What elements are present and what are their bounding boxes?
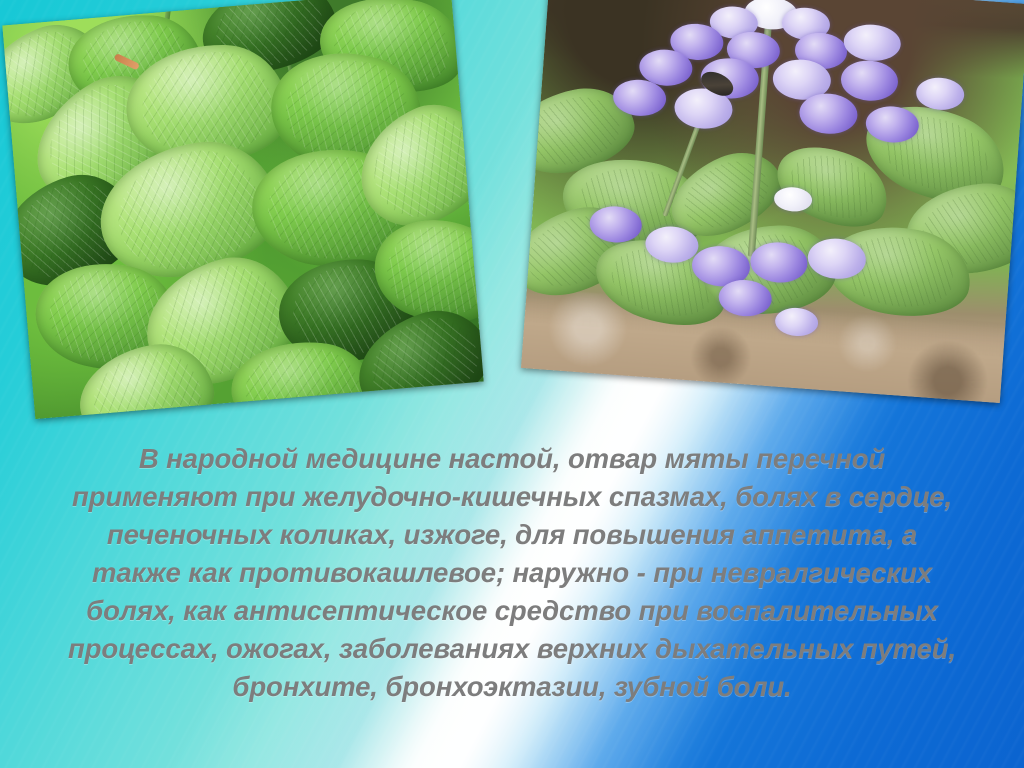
catmint-photo-content [521, 0, 1024, 403]
slide-body-text: В народной медицине настой, отвар мяты п… [62, 440, 962, 706]
presentation-slide: В народной медицине настой, отвар мяты п… [0, 0, 1024, 768]
mint-leaves-photo [2, 0, 483, 419]
mint-photo-content [2, 0, 483, 419]
catmint-flowers-photo [521, 0, 1024, 403]
